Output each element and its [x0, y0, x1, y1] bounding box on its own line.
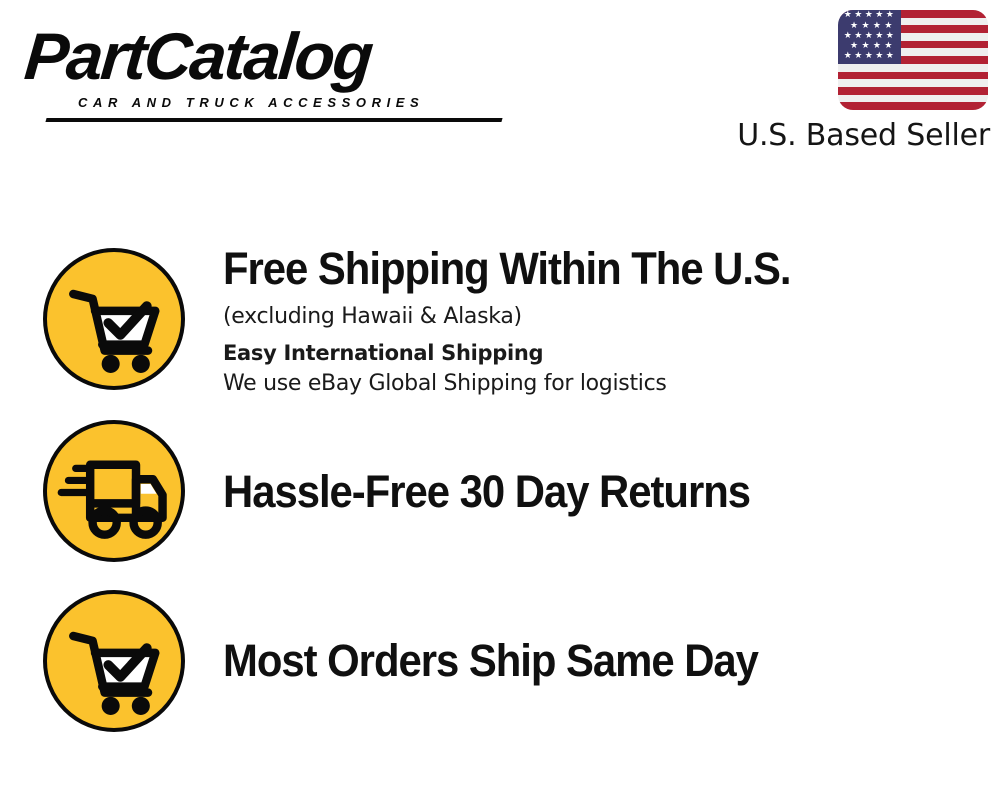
feature-text-block: Free Shipping Within The U.S. (excluding…	[223, 244, 983, 399]
delivery-truck-icon	[54, 431, 175, 552]
flag-star: ★	[865, 31, 873, 40]
flag-stripe	[838, 72, 988, 80]
shopping-cart-check-icon	[43, 590, 185, 732]
flag-star: ★	[854, 10, 862, 19]
flag-star: ★	[875, 10, 883, 19]
cart-glyph	[54, 601, 175, 722]
flag-star: ★	[884, 41, 892, 50]
cart-glyph	[54, 259, 175, 380]
flag-star: ★	[861, 21, 869, 30]
flag-stripe	[838, 95, 988, 103]
partcatalog-logo[interactable]: PartCatalog CAR AND TRUCK ACCESSORIES	[22, 22, 492, 114]
feature-subtext-bold: Easy International Shipping	[223, 338, 983, 368]
flag-star: ★	[850, 21, 858, 30]
feature-row: Free Shipping Within The U.S. (excluding…	[0, 248, 1000, 408]
feature-row: Hassle-Free 30 Day Returns	[0, 420, 1000, 570]
page-header: PartCatalog CAR AND TRUCK ACCESSORIES ★★…	[0, 0, 1000, 180]
flag-stripe	[838, 79, 988, 87]
shopping-cart-check-icon	[43, 248, 185, 390]
brand-wordmark: PartCatalog	[22, 22, 374, 90]
flag-star: ★	[865, 10, 873, 19]
flag-star: ★	[873, 21, 881, 30]
feature-subtext: (excluding Hawaii & Alaska)	[223, 302, 983, 332]
feature-text-block: Most Orders Ship Same Day	[223, 636, 983, 686]
flag-star: ★	[850, 41, 858, 50]
truck-glyph	[54, 431, 175, 552]
flag-star: ★	[844, 10, 852, 19]
shopping-cart-check-icon	[54, 259, 175, 380]
flag-star: ★	[844, 31, 852, 40]
flag-star: ★	[865, 51, 873, 60]
flag-canton: ★★★★★★★★★★★★★★★★★★★★★★★	[838, 10, 901, 64]
feature-headline: Free Shipping Within The U.S.	[223, 244, 930, 294]
flag-star: ★	[844, 51, 852, 60]
us-based-seller-label: U.S. Based Seller	[660, 118, 990, 154]
logo-underline-accent	[45, 118, 502, 122]
feature-subtext: We use eBay Global Shipping for logistic…	[223, 369, 983, 399]
flag-stripe	[838, 64, 988, 72]
flag-stripe	[838, 102, 988, 110]
flag-star: ★	[875, 31, 883, 40]
flag-star: ★	[875, 51, 883, 60]
flag-stripe	[838, 87, 988, 95]
flag-star: ★	[854, 31, 862, 40]
feature-headline: Hassle-Free 30 Day Returns	[223, 467, 930, 517]
feature-row: Most Orders Ship Same Day	[0, 590, 1000, 745]
feature-text-block: Hassle-Free 30 Day Returns	[223, 467, 983, 517]
flag-star: ★	[886, 51, 894, 60]
flag-star: ★	[873, 41, 881, 50]
flag-star: ★	[861, 41, 869, 50]
flag-star: ★	[886, 10, 894, 19]
flag-star: ★	[886, 31, 894, 40]
us-flag-icon: ★★★★★★★★★★★★★★★★★★★★★★★	[838, 10, 988, 110]
flag-star: ★	[884, 21, 892, 30]
flag-star: ★	[854, 51, 862, 60]
feature-headline: Most Orders Ship Same Day	[223, 636, 930, 686]
delivery-truck-icon	[43, 420, 185, 562]
brand-tagline: CAR AND TRUCK ACCESSORIES	[78, 95, 424, 110]
shopping-cart-check-icon	[54, 601, 175, 722]
